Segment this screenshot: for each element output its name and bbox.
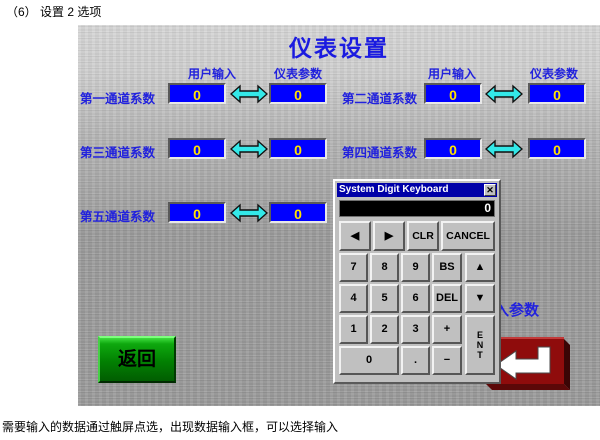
channel-4-user-input-field[interactable]: 0 (424, 138, 482, 159)
column-header-meter-param-right: 仪表参数 (530, 65, 578, 82)
key-2[interactable]: 2 (370, 315, 399, 344)
page-title: 仪表设置 (78, 29, 600, 63)
key-0[interactable]: 0 (339, 346, 399, 375)
key-clr[interactable]: CLR (407, 221, 439, 251)
key-arrow-left[interactable]: ◀ (339, 221, 371, 251)
column-header-meter-param-left: 仪表参数 (274, 65, 322, 82)
bidirectional-arrow-icon-3 (230, 139, 268, 159)
bidirectional-arrow-icon-5 (230, 203, 268, 223)
keyboard-titlebar: System Digit Keyboard ✕ (337, 183, 497, 197)
key-decimal-point[interactable]: . (401, 346, 430, 375)
key-6[interactable]: 6 (401, 284, 430, 313)
key-4[interactable]: 4 (339, 284, 368, 313)
channel-label-3: 第三通道系数 (80, 142, 155, 161)
close-icon[interactable]: ✕ (484, 184, 496, 196)
key-delete[interactable]: DEL (432, 284, 462, 313)
key-7[interactable]: 7 (339, 253, 368, 282)
key-enter-letter-t: T (477, 350, 483, 360)
key-9[interactable]: 9 (401, 253, 430, 282)
bidirectional-arrow-icon-2 (485, 84, 523, 104)
key-arrow-down[interactable]: ▼ (465, 284, 495, 313)
channel-1-user-input-field[interactable]: 0 (168, 83, 226, 104)
channel-label-5: 第五通道系数 (80, 206, 155, 225)
figure-caption-top: （6） 设置 2 选项 (6, 3, 101, 20)
channel-label-2: 第二通道系数 (342, 88, 417, 107)
key-3[interactable]: 3 (401, 315, 430, 344)
channel-3-meter-param-field[interactable]: 0 (269, 138, 327, 159)
key-cancel[interactable]: CANCEL (441, 221, 495, 251)
channel-5-meter-param-field[interactable]: 0 (269, 202, 327, 223)
key-minus[interactable]: − (432, 346, 462, 375)
bidirectional-arrow-icon-1 (230, 84, 268, 104)
figure-caption-bottom: 需要输入的数据通过触屏点选，出现数据输入框，可以选择输入 (2, 418, 338, 435)
keyboard-display-field: 0 (339, 200, 495, 217)
key-enter-letter-e: E (477, 330, 483, 340)
column-header-user-input-left: 用户输入 (188, 65, 236, 82)
system-digit-keyboard-dialog[interactable]: System Digit Keyboard ✕ 0 ◀ ▶ CLR CANCEL… (333, 179, 501, 384)
channel-1-meter-param-field[interactable]: 0 (269, 83, 327, 104)
column-header-user-input-right: 用户输入 (428, 65, 476, 82)
key-5[interactable]: 5 (370, 284, 399, 313)
channel-label-4: 第四通道系数 (342, 142, 417, 161)
channel-3-user-input-field[interactable]: 0 (168, 138, 226, 159)
channel-4-meter-param-field[interactable]: 0 (528, 138, 586, 159)
keyboard-keypad: ◀ ▶ CLR CANCEL 7 8 9 BS ▲ 4 5 6 DEL ▼ 1 … (339, 221, 497, 379)
channel-2-meter-param-field[interactable]: 0 (528, 83, 586, 104)
bidirectional-arrow-icon-4 (485, 139, 523, 159)
channel-label-1: 第一通道系数 (80, 88, 155, 107)
channel-2-user-input-field[interactable]: 0 (424, 83, 482, 104)
channel-5-user-input-field[interactable]: 0 (168, 202, 226, 223)
key-arrow-up[interactable]: ▲ (465, 253, 495, 282)
key-8[interactable]: 8 (370, 253, 399, 282)
key-backspace[interactable]: BS (432, 253, 462, 282)
return-button[interactable]: 返回 (98, 336, 176, 383)
keyboard-title-text: System Digit Keyboard (339, 184, 448, 195)
key-enter[interactable]: E N T (465, 315, 495, 375)
key-enter-letter-n: N (477, 340, 484, 350)
key-plus[interactable]: + (432, 315, 462, 344)
key-1[interactable]: 1 (339, 315, 368, 344)
key-arrow-right[interactable]: ▶ (373, 221, 405, 251)
